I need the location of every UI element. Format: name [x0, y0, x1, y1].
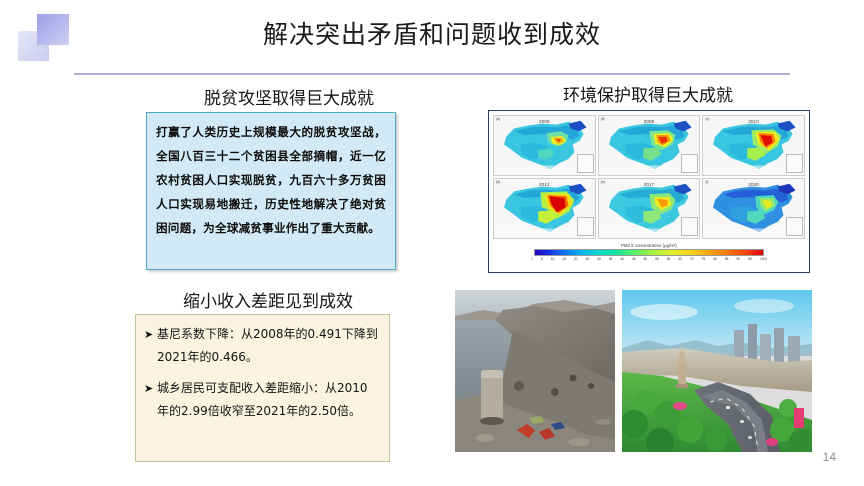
colorbar-tick: 15 — [562, 257, 566, 261]
map-year-label: 2000 — [539, 119, 550, 124]
map-panel-letter: (c) — [705, 117, 709, 121]
pm25-colorbar: PM2.5 concentration (μg/m³) 1 5 10 15 20… — [493, 243, 805, 261]
map-cell: (d) 2013 — [493, 178, 596, 239]
arrow-bullet-icon: ➤ — [144, 377, 157, 400]
list-item: ➤ 基尼系数下降：从2008年的0.491下降到2021年的0.466。 — [144, 323, 379, 369]
list-item-label: 基尼系数下降：从2008年的0.491下降到2021年的0.466。 — [157, 323, 379, 369]
colorbar-tick: 85 — [725, 257, 729, 261]
map-cell: (c) 2010 — [702, 115, 805, 176]
map-inset-box — [786, 154, 803, 173]
colorbar-tick: 95 — [748, 257, 752, 261]
map-inset-box — [681, 217, 698, 236]
colorbar-tick: 90 — [736, 257, 740, 261]
map-cell: (b) 2008 — [598, 115, 701, 176]
map-cell: (f) 2020 — [702, 178, 805, 239]
colorbar-tick: 70 — [690, 257, 694, 261]
map-year-label: 2013 — [539, 182, 550, 187]
colorbar-tick: 80 — [713, 257, 717, 261]
map-cell: (a) 2000 — [493, 115, 596, 176]
polluted-riverbank-photo — [455, 290, 615, 452]
colorbar-tick: 35 — [609, 257, 613, 261]
title-divider — [74, 73, 790, 75]
colorbar-gradient — [534, 249, 764, 256]
environment-section-heading: 环境保护取得巨大成就 — [488, 81, 808, 106]
colorbar-tick: 75 — [702, 257, 706, 261]
colorbar-tick: >100 — [760, 257, 767, 261]
map-inset-box — [786, 217, 803, 236]
poverty-section-heading: 脱贫攻坚取得巨大成就 — [143, 84, 435, 109]
map-year-label: 2010 — [748, 119, 759, 124]
poverty-body-text: 打赢了人类历史上规模最大的脱贫攻坚战，全国八百三十二个贫困县全部摘帽，近一亿农村… — [156, 120, 386, 240]
income-list-box: ➤ 基尼系数下降：从2008年的0.491下降到2021年的0.466。 ➤ 城… — [135, 314, 390, 462]
map-panel-letter: (a) — [496, 117, 500, 121]
arrow-bullet-icon: ➤ — [144, 323, 157, 346]
colorbar-tick: 45 — [632, 257, 636, 261]
page-title: 解决突出矛盾和问题收到成效 — [0, 15, 864, 51]
colorbar-tick: 65 — [678, 257, 682, 261]
colorbar-tick: 5 — [541, 257, 543, 261]
colorbar-tick: 30 — [597, 257, 601, 261]
list-item-label: 城乡居民可支配收入差距缩小：从2010年的2.99倍收窄至2021年的2.50倍… — [157, 377, 379, 423]
colorbar-tick: 40 — [620, 257, 624, 261]
colorbar-tick-labels: 1 5 10 15 20 25 30 35 40 45 50 55 60 65 … — [531, 257, 767, 261]
poverty-text-box: 打赢了人类历史上规模最大的脱贫攻坚战，全国八百三十二个贫困县全部摘帽，近一亿农村… — [146, 112, 396, 270]
colorbar-tick: 50 — [644, 257, 648, 261]
colorbar-tick: 25 — [586, 257, 590, 261]
map-year-label: 2008 — [644, 119, 655, 124]
list-item: ➤ 城乡居民可支配收入差距缩小：从2010年的2.99倍收窄至2021年的2.5… — [144, 377, 379, 423]
colorbar-tick: 20 — [574, 257, 578, 261]
map-inset-box — [577, 217, 594, 236]
greenway-riverfront-photo — [622, 290, 812, 452]
page-number: 14 — [823, 450, 836, 464]
pm25-map-grid: (a) 2000 — [493, 115, 805, 239]
colorbar-tick: 1 — [531, 257, 533, 261]
colorbar-tick: 60 — [667, 257, 671, 261]
map-cell: (e) 2017 — [598, 178, 701, 239]
pm25-map-figure: (a) 2000 — [488, 110, 810, 273]
colorbar-tick: 10 — [551, 257, 555, 261]
income-section-heading: 缩小收入差距见到成效 — [140, 287, 396, 312]
colorbar-caption: PM2.5 concentration (μg/m³) — [493, 243, 805, 248]
map-panel-letter: (f) — [705, 180, 708, 184]
map-panel-letter: (e) — [601, 180, 605, 184]
map-year-label: 2020 — [748, 182, 759, 187]
map-year-label: 2017 — [644, 182, 655, 187]
map-panel-letter: (b) — [601, 117, 605, 121]
map-inset-box — [681, 154, 698, 173]
slide-canvas: 解决突出矛盾和问题收到成效 脱贫攻坚取得巨大成就 打赢了人类历史上规模最大的脱贫… — [0, 0, 864, 486]
map-inset-box — [577, 154, 594, 173]
colorbar-tick: 55 — [655, 257, 659, 261]
map-panel-letter: (d) — [496, 180, 500, 184]
